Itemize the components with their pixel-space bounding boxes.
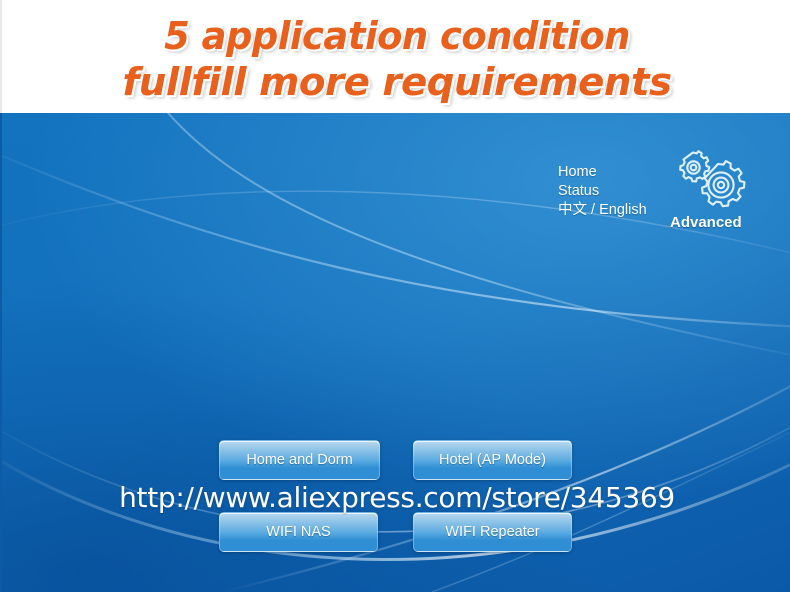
nav-cluster: Home Status 中文 / English <box>558 163 758 253</box>
store-url-text: http://www.aliexpress.com/store/345369 <box>2 481 790 514</box>
router-ui-panel: Home Status 中文 / English <box>0 113 790 592</box>
header-band: 5 application condition fullfill more re… <box>0 0 790 113</box>
mode-button-wifi-repeater[interactable]: WIFI Repeater <box>413 512 572 552</box>
mode-button-hotel-ap-mode[interactable]: Hotel (AP Mode) <box>413 440 572 480</box>
mode-button-wifi-nas[interactable]: WIFI NAS <box>219 512 378 552</box>
headline-line-2: fullfill more requirements <box>0 60 790 104</box>
mode-button-home-and-dorm[interactable]: Home and Dorm <box>219 440 380 480</box>
promo-banner: 5 application condition fullfill more re… <box>0 0 790 592</box>
headline-line-1: 5 application condition <box>14 14 780 58</box>
nav-item-language[interactable]: 中文 / English <box>558 201 678 220</box>
nav-item-home[interactable]: Home <box>558 163 678 182</box>
gears-icon[interactable] <box>672 150 750 220</box>
nav-links: Home Status 中文 / English <box>558 163 678 220</box>
nav-item-status[interactable]: Status <box>558 182 678 201</box>
nav-item-advanced[interactable]: Advanced <box>670 214 742 231</box>
